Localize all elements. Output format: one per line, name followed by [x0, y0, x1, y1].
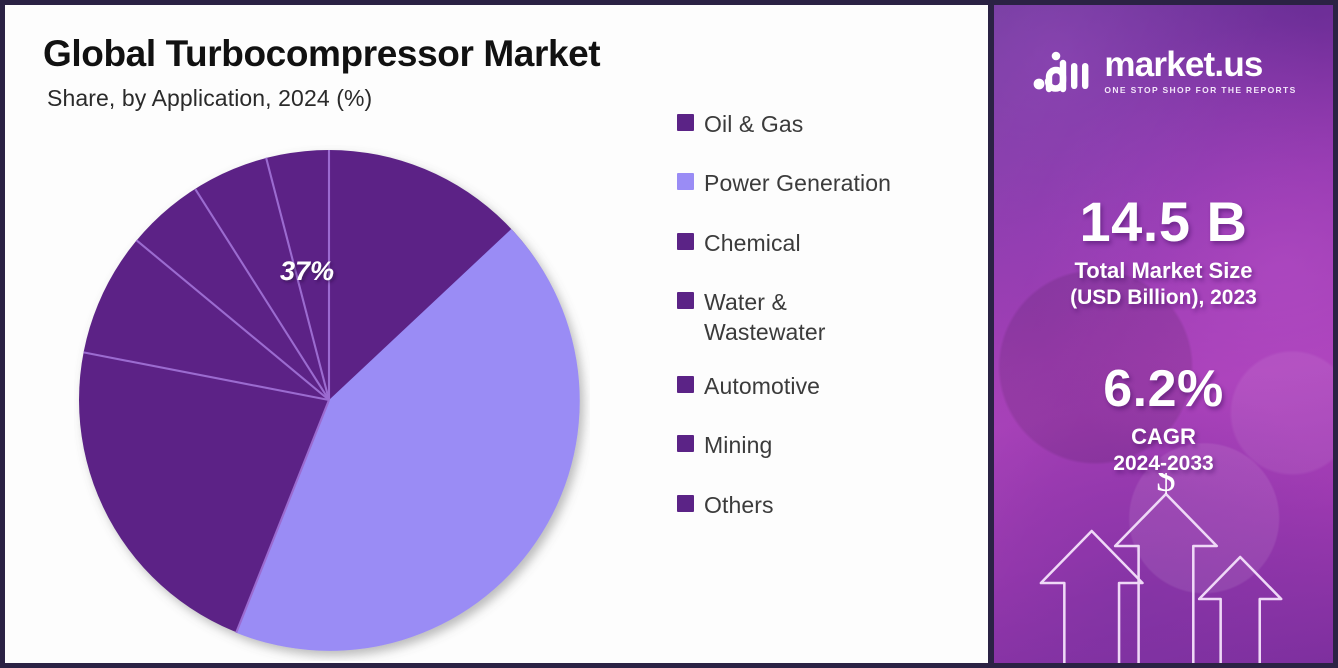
legend-label: Water & Wastewater	[704, 287, 854, 348]
legend-item-automotive[interactable]: Automotive	[677, 371, 977, 401]
market-size-caption-line2: (USD Billion), 2023	[994, 285, 1333, 311]
page-subtitle: Share, by Application, 2024 (%)	[47, 85, 600, 112]
legend-swatch-icon	[677, 292, 694, 309]
market-us-logo-mark-icon	[1030, 47, 1092, 95]
legend-swatch-icon	[677, 376, 694, 393]
legend-swatch-icon	[677, 495, 694, 512]
legend-item-oil-and-gas[interactable]: Oil & Gas	[677, 109, 977, 139]
legend-swatch-icon	[677, 233, 694, 250]
pie-label-oil-and-gas: 37%	[280, 256, 334, 286]
chart-panel: Global Turbocompressor Market Share, by …	[0, 0, 991, 668]
legend-item-water-and-wastewater[interactable]: Water & Wastewater	[677, 287, 977, 348]
stat-cagr: 6.2% CAGR 2024-2033	[994, 363, 1333, 476]
legend-item-others[interactable]: Others	[677, 490, 977, 520]
legend-item-chemical[interactable]: Chemical	[677, 228, 977, 258]
legend-swatch-icon	[677, 435, 694, 452]
legend-label: Oil & Gas	[704, 109, 803, 139]
logo-wordmark: market.us	[1104, 47, 1296, 82]
market-size-value: 14.5 B	[994, 193, 1333, 250]
cagr-value: 6.2%	[994, 363, 1333, 416]
legend-label: Others	[704, 490, 774, 520]
cagr-caption-line1: CAGR	[994, 424, 1333, 451]
chart-legend: Oil & Gas Power Generation Chemical Wate…	[677, 109, 977, 549]
legend-label: Mining	[704, 430, 772, 460]
growth-arrows-svg: $	[994, 473, 1333, 663]
up-arrow-right-icon	[1199, 557, 1281, 663]
legend-swatch-icon	[677, 173, 694, 190]
logo-tagline: ONE STOP SHOP FOR THE REPORTS	[1104, 86, 1296, 95]
legend-swatch-icon	[677, 114, 694, 131]
up-arrow-center-icon	[1115, 494, 1217, 663]
stats-panel: market.us ONE STOP SHOP FOR THE REPORTS …	[991, 0, 1338, 668]
pie-chart: 37%	[74, 145, 590, 661]
infographic-root: Global Turbocompressor Market Share, by …	[0, 0, 1338, 668]
legend-item-mining[interactable]: Mining	[677, 430, 977, 460]
stat-market-size: 14.5 B Total Market Size (USD Billion), …	[994, 193, 1333, 311]
logo-text-block: market.us ONE STOP SHOP FOR THE REPORTS	[1104, 47, 1296, 95]
dollar-sign-icon: $	[1156, 473, 1176, 500]
growth-arrows-art: $	[994, 473, 1333, 663]
legend-item-power-generation[interactable]: Power Generation	[677, 168, 977, 198]
title-block: Global Turbocompressor Market Share, by …	[43, 33, 600, 112]
legend-label: Power Generation	[704, 168, 891, 198]
up-arrow-left-icon	[1041, 531, 1143, 663]
pie-chart-svg: 37%	[74, 145, 590, 661]
legend-label: Chemical	[704, 228, 801, 258]
market-size-caption-line1: Total Market Size	[994, 258, 1333, 285]
page-title: Global Turbocompressor Market	[43, 33, 600, 75]
brand-logo[interactable]: market.us ONE STOP SHOP FOR THE REPORTS	[994, 47, 1333, 95]
legend-label: Automotive	[704, 371, 820, 401]
